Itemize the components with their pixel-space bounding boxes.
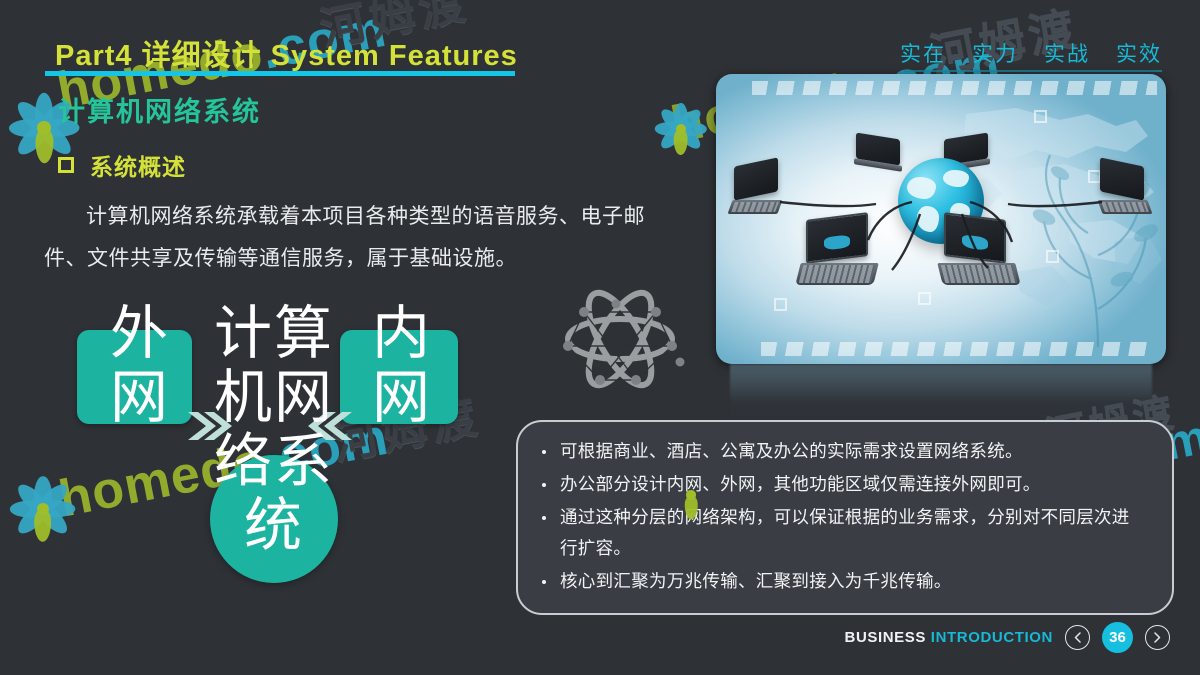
list-item-text: 办公部分设计内网、外网，其他功能区域仅需连接外网即可。 xyxy=(560,469,1041,500)
diagram-hub-circle xyxy=(210,455,338,583)
arrow-left-icon xyxy=(308,408,352,444)
bullet-dot-icon xyxy=(542,580,546,584)
list-item-text: 通过这种分层的网络架构，可以保证根据的业务需求，分别对不同层次进行扩容。 xyxy=(560,502,1146,564)
list-item: 办公部分设计内网、外网，其他功能区域仅需连接外网即可。 xyxy=(542,469,1146,500)
diagram-box-internal xyxy=(340,330,458,424)
list-item: 可根据商业、酒店、公寓及办公的实际需求设置网络系统。 xyxy=(542,436,1146,467)
chevron-left-icon xyxy=(1073,632,1082,643)
tagline-item-0: 实在 xyxy=(900,38,946,68)
next-slide-button[interactable] xyxy=(1145,625,1170,650)
prev-slide-button[interactable] xyxy=(1065,625,1090,650)
square-bullet-icon xyxy=(58,157,74,173)
network-architecture-diagram: 外网 计算机网络系统 内网 xyxy=(40,300,500,650)
page-number-badge: 36 xyxy=(1102,622,1133,653)
section-heading-label: 系统概述 xyxy=(90,148,186,182)
title-underline xyxy=(45,71,515,76)
list-item-text: 可根据商业、酒店、公寓及办公的实际需求设置网络系统。 xyxy=(560,436,1023,467)
features-bullet-list: 可根据商业、酒店、公寓及办公的实际需求设置网络系统。 办公部分设计内网、外网，其… xyxy=(542,436,1146,597)
tagline: 实在 实力 实战 实效 xyxy=(900,38,1162,68)
tagline-item-1: 实力 xyxy=(972,38,1018,68)
tagline-item-2: 实战 xyxy=(1044,38,1090,68)
diagram-box-external xyxy=(77,330,192,424)
footer-brand: BUSINESS INTRODUCTION xyxy=(845,629,1053,646)
network-cables xyxy=(716,74,1166,364)
page-subtitle: 计算机网络系统 xyxy=(58,90,261,129)
footer-brand-first: BUSINESS xyxy=(845,629,927,646)
flower-logo-icon-photo xyxy=(650,98,712,160)
overview-paragraph: 计算机网络系统承载着本项目各种类型的语音服务、电子邮件、文件共享及传输等通信服务… xyxy=(44,196,669,280)
bullet-dot-icon xyxy=(542,450,546,454)
bullet-dot-icon xyxy=(542,483,546,487)
section-heading: 系统概述 xyxy=(58,148,186,182)
atom-molecule-icon xyxy=(540,276,700,402)
computer-network-globe-illustration xyxy=(716,74,1166,364)
arrow-right-icon xyxy=(188,408,232,444)
chevron-right-icon xyxy=(1153,632,1162,643)
bullet-dot-icon xyxy=(542,516,546,520)
list-item: 通过这种分层的网络架构，可以保证根据的业务需求，分别对不同层次进行扩容。 xyxy=(542,502,1146,564)
list-item: 核心到汇聚为万兆传输、汇聚到接入为千兆传输。 xyxy=(542,566,1146,597)
tagline-underline xyxy=(904,70,1162,72)
features-panel: 可根据商业、酒店、公寓及办公的实际需求设置网络系统。 办公部分设计内网、外网，其… xyxy=(516,420,1174,615)
list-item-text: 核心到汇聚为万兆传输、汇聚到接入为千兆传输。 xyxy=(560,566,952,597)
tagline-item-3: 实效 xyxy=(1116,38,1162,68)
page-title: Part4 详细设计 System Features xyxy=(55,32,518,74)
slide-footer: BUSINESS INTRODUCTION 36 xyxy=(845,622,1170,653)
slide-canvas: homedo.com 河姆渡 homedo.com 河姆渡 homedo.com… xyxy=(0,0,1200,675)
footer-brand-second: INTRODUCTION xyxy=(931,629,1053,646)
